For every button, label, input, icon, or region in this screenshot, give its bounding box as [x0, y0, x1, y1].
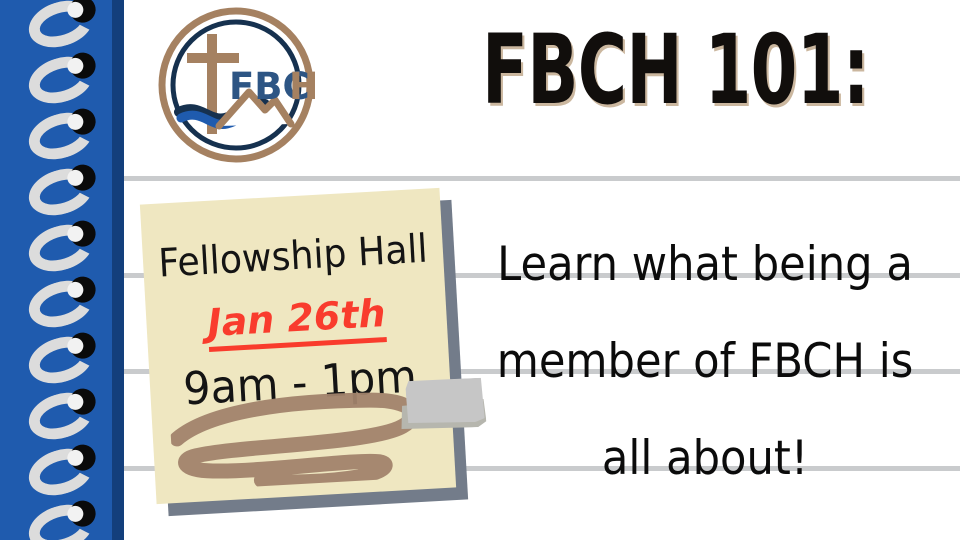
spiral-ring-icon	[23, 441, 99, 503]
tape-icon	[405, 378, 484, 425]
fbch-logo-icon: FBC H	[157, 6, 315, 164]
sticky-note-paper: Fellowship Hall Jan 26th 9am - 1pm	[140, 188, 456, 504]
marker-scribble-icon	[169, 385, 438, 492]
spiral-ring-icon	[23, 273, 99, 335]
spiral-ring-icon	[23, 217, 99, 279]
body-copy-line: all about!	[494, 410, 915, 507]
body-copy-line: Learn what being a	[494, 216, 915, 313]
ruled-line	[124, 176, 960, 181]
spiral-binder	[0, 0, 124, 540]
slide-canvas: FBC H FBCH 101: Learn what being a membe…	[0, 0, 960, 540]
sticky-note: Fellowship Hall Jan 26th 9am - 1pm	[148, 196, 458, 506]
spiral-ring-icon	[23, 0, 99, 55]
note-date: Jan 26th	[145, 288, 447, 349]
body-copy: Learn what being a member of FBCH is all…	[476, 216, 934, 507]
binder-edge	[112, 0, 124, 540]
page-title: FBCH 101:	[482, 18, 869, 122]
spiral-ring-icon	[23, 49, 99, 111]
note-location: Fellowship Hall	[152, 226, 433, 287]
spiral-ring-icon	[23, 161, 99, 223]
spiral-ring-icon	[23, 105, 99, 167]
spiral-ring-icon	[23, 385, 99, 447]
body-copy-line: member of FBCH is	[494, 313, 915, 410]
spiral-ring-icon	[23, 329, 99, 391]
svg-text:H: H	[289, 65, 315, 108]
note-date-text: Jan 26th	[206, 291, 387, 352]
spiral-ring-icon	[23, 497, 99, 540]
